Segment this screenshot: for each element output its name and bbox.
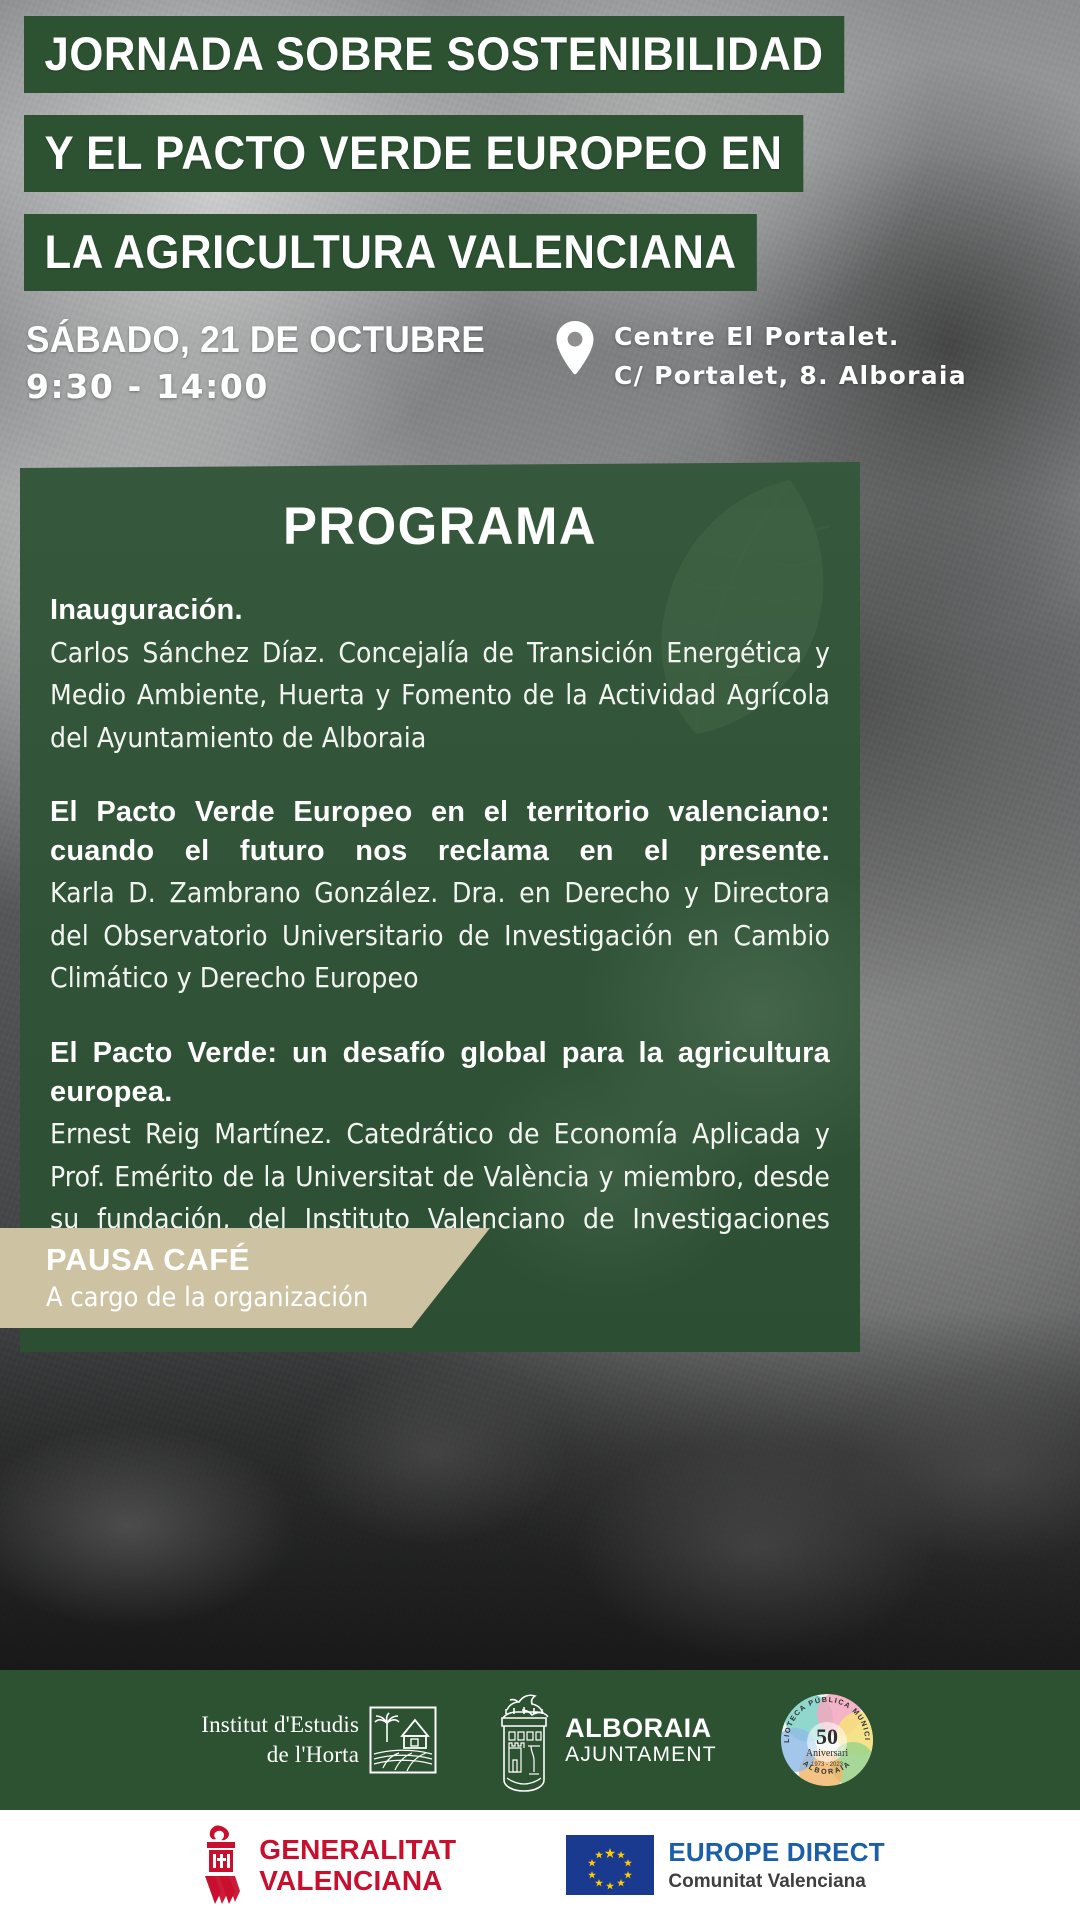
programme-content: PROGRAMA Inauguración. Carlos Sánchez Dí… bbox=[20, 462, 860, 1283]
generalitat-shield-icon bbox=[195, 1824, 247, 1906]
institutional-logo-bar: GENERALITAT VALENCIANA bbox=[0, 1810, 1080, 1920]
venue-address: C/ Portalet, 8. Alboraia bbox=[614, 357, 967, 396]
entry-title: El Pacto Verde: un desafío global para l… bbox=[50, 1034, 830, 1111]
entry-description: Carlos Sánchez Díaz. Concejalía de Trans… bbox=[50, 632, 830, 760]
logo-institut-estudis-horta: Institut d'Estudis de l'Horta bbox=[201, 1706, 437, 1774]
entry-title: El Pacto Verde Europeo en el territorio … bbox=[50, 793, 830, 870]
entry-description: Karla D. Zambrano González. Dra. en Dere… bbox=[50, 872, 830, 1000]
pausa-cafe-banner: PAUSA CAFÉ A cargo de la organización bbox=[0, 1228, 490, 1328]
logo-gva-line-2: VALENCIANA bbox=[259, 1865, 456, 1896]
venue-name: Centre El Portalet. bbox=[614, 318, 967, 357]
logo-generalitat-valenciana: GENERALITAT VALENCIANA bbox=[195, 1824, 456, 1906]
logo-ieh-line-1: Institut d'Estudis bbox=[201, 1710, 359, 1740]
poster: JORNADA SOBRE SOSTENIBILIDAD Y EL PACTO … bbox=[0, 0, 1080, 1920]
event-date: SÁBADO, 21 DE OCTUBRE bbox=[26, 318, 520, 362]
organizer-logo-bar: Institut d'Estudis de l'Horta bbox=[0, 1670, 1080, 1810]
logo-europe-direct: EUROPE DIRECT Comunitat Valenciana bbox=[566, 1835, 884, 1895]
logo-ed-title: EUROPE DIRECT bbox=[668, 1837, 884, 1868]
event-location: Centre El Portalet. C/ Portalet, 8. Albo… bbox=[554, 318, 967, 396]
pausa-cafe-title: PAUSA CAFÉ bbox=[46, 1242, 490, 1278]
logo-gva-text: GENERALITAT VALENCIANA bbox=[259, 1834, 456, 1897]
map-pin-icon bbox=[554, 320, 596, 378]
headline-line-3: LA AGRICULTURA VALENCIANA bbox=[24, 214, 757, 291]
background-soil-band bbox=[0, 1310, 1080, 1670]
svg-text:50: 50 bbox=[816, 1724, 838, 1749]
programme-panel: PROGRAMA Inauguración. Carlos Sánchez Dí… bbox=[20, 462, 860, 1352]
logo-ieh-text: Institut d'Estudis de l'Horta bbox=[201, 1710, 359, 1770]
event-datetime: SÁBADO, 21 DE OCTUBRE 9:30 - 14:00 bbox=[26, 318, 546, 409]
programme-title: PROGRAMA bbox=[66, 496, 815, 557]
watercolor-circle-icon: 50 Aniversari 1973 - 2023 BIBLIOTECA PÚB… bbox=[775, 1688, 879, 1792]
logo-alboraia-text: ALBORAIA AJUNTAMENT bbox=[565, 1715, 717, 1765]
alboraia-crest-icon bbox=[495, 1688, 553, 1792]
event-time: 9:30 - 14:00 bbox=[26, 366, 546, 409]
logo-biblioteca-50-aniversari: 50 Aniversari 1973 - 2023 BIBLIOTECA PÚB… bbox=[775, 1688, 879, 1792]
headline: JORNADA SOBRE SOSTENIBILIDAD Y EL PACTO … bbox=[0, 16, 1080, 313]
headline-line-1: JORNADA SOBRE SOSTENIBILIDAD bbox=[24, 16, 844, 93]
headline-line-2: Y EL PACTO VERDE EUROPEO EN bbox=[24, 115, 803, 192]
logo-ed-subtitle: Comunitat Valenciana bbox=[668, 1871, 884, 1894]
eu-flag-icon bbox=[566, 1835, 654, 1895]
logo-alboraia-sub: AJUNTAMENT bbox=[565, 1744, 717, 1765]
logo-alboraia-name: ALBORAIA bbox=[565, 1715, 717, 1742]
barraca-palm-icon bbox=[369, 1706, 437, 1774]
logo-ed-text: EUROPE DIRECT Comunitat Valenciana bbox=[668, 1837, 884, 1894]
programme-entry: Inauguración. Carlos Sánchez Díaz. Conce… bbox=[50, 591, 830, 759]
pausa-cafe-subtitle: A cargo de la organización bbox=[46, 1282, 490, 1313]
venue-text: Centre El Portalet. C/ Portalet, 8. Albo… bbox=[614, 318, 967, 396]
programme-entry: El Pacto Verde Europeo en el territorio … bbox=[50, 793, 830, 1000]
logo-ieh-line-2: de l'Horta bbox=[201, 1740, 359, 1770]
event-meta: SÁBADO, 21 DE OCTUBRE 9:30 - 14:00 Centr… bbox=[0, 318, 1080, 409]
svg-text:Aniversari: Aniversari bbox=[806, 1748, 848, 1759]
logo-alboraia-ajuntament: ALBORAIA AJUNTAMENT bbox=[495, 1688, 717, 1792]
logo-gva-line-1: GENERALITAT bbox=[259, 1834, 456, 1865]
entry-title: Inauguración. bbox=[50, 591, 830, 630]
